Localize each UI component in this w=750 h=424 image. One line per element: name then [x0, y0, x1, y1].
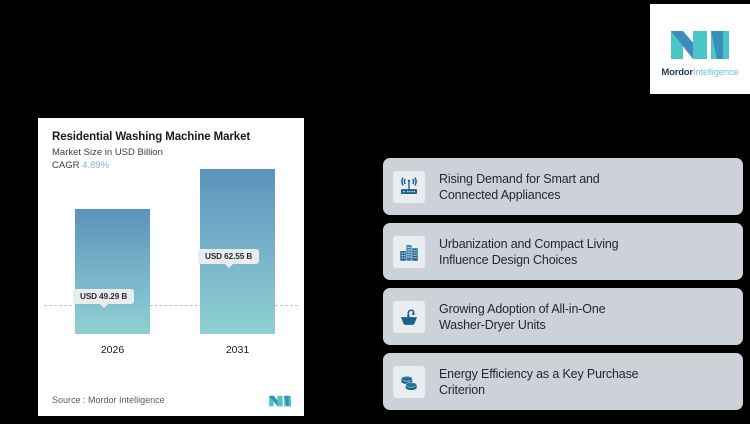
driver-text-line1: Growing Adoption of All-in-One [439, 301, 605, 317]
stacked-coins-icon [393, 366, 425, 398]
logo-word-mordor: Mordor [661, 67, 693, 78]
bar-chart-plot: USD 49.29 B USD 62.55 B 2026 2031 [38, 176, 304, 376]
driver-item-smart-appliances[interactable]: Rising Demand for Smart and Connected Ap… [383, 158, 743, 215]
washer-basin-icon [393, 301, 425, 333]
city-buildings-icon [393, 236, 425, 268]
wifi-router-icon [393, 171, 425, 203]
value-label-2031: USD 62.55 B [198, 249, 259, 264]
source-name: Mordor Intelligence [88, 395, 165, 405]
driver-text-line1: Energy Efficiency as a Key Purchase [439, 366, 639, 382]
driver-item-energy-efficiency[interactable]: Energy Efficiency as a Key Purchase Crit… [383, 353, 743, 410]
driver-text: Growing Adoption of All-in-One Washer-Dr… [439, 301, 613, 333]
driver-text-line1: Rising Demand for Smart and [439, 171, 600, 187]
cagr-label: CAGR [52, 160, 79, 171]
driver-text: Rising Demand for Smart and Connected Ap… [439, 171, 608, 203]
driver-text: Energy Efficiency as a Key Purchase Crit… [439, 366, 647, 398]
mordor-logo-small-icon [268, 392, 292, 407]
chart-card: Residential Washing Machine Market Marke… [38, 118, 304, 416]
driver-text-line2: Criterion [439, 382, 639, 398]
chart-title: Residential Washing Machine Market [52, 130, 290, 144]
chart-source-text: Source : Mordor Intelligence [52, 395, 165, 405]
logo-word-intelligence: Intelligence [693, 67, 739, 78]
driver-item-all-in-one-washer-dryer[interactable]: Growing Adoption of All-in-One Washer-Dr… [383, 288, 743, 345]
x-axis-label-2026: 2026 [75, 344, 150, 356]
value-label-2026: USD 49.29 B [73, 289, 134, 304]
driver-text: Urbanization and Compact Living Influenc… [439, 236, 626, 268]
mordor-intelligence-logo-icon [669, 21, 731, 61]
chart-source-row: Source : Mordor Intelligence [52, 392, 292, 407]
driver-text-line2: Connected Appliances [439, 187, 600, 203]
source-label: Source : [52, 395, 86, 405]
driver-item-urbanization[interactable]: Urbanization and Compact Living Influenc… [383, 223, 743, 280]
x-axis-label-2031: 2031 [200, 344, 275, 356]
mordor-logo-plate: MordorIntelligence [650, 4, 750, 94]
bar-2026 [75, 209, 150, 334]
chart-subtitle: Market Size in USD Billion [52, 147, 290, 159]
driver-text-line2: Washer-Dryer Units [439, 317, 605, 333]
screenshot-root: MordorIntelligence Residential Washing M… [0, 0, 750, 424]
mordor-logo-wordmark: MordorIntelligence [661, 67, 738, 78]
driver-text-line2: Influence Design Choices [439, 252, 618, 268]
market-drivers-list: Rising Demand for Smart and Connected Ap… [383, 158, 743, 418]
driver-text-line1: Urbanization and Compact Living [439, 236, 618, 252]
cagr-value: 4.89% [82, 160, 109, 171]
